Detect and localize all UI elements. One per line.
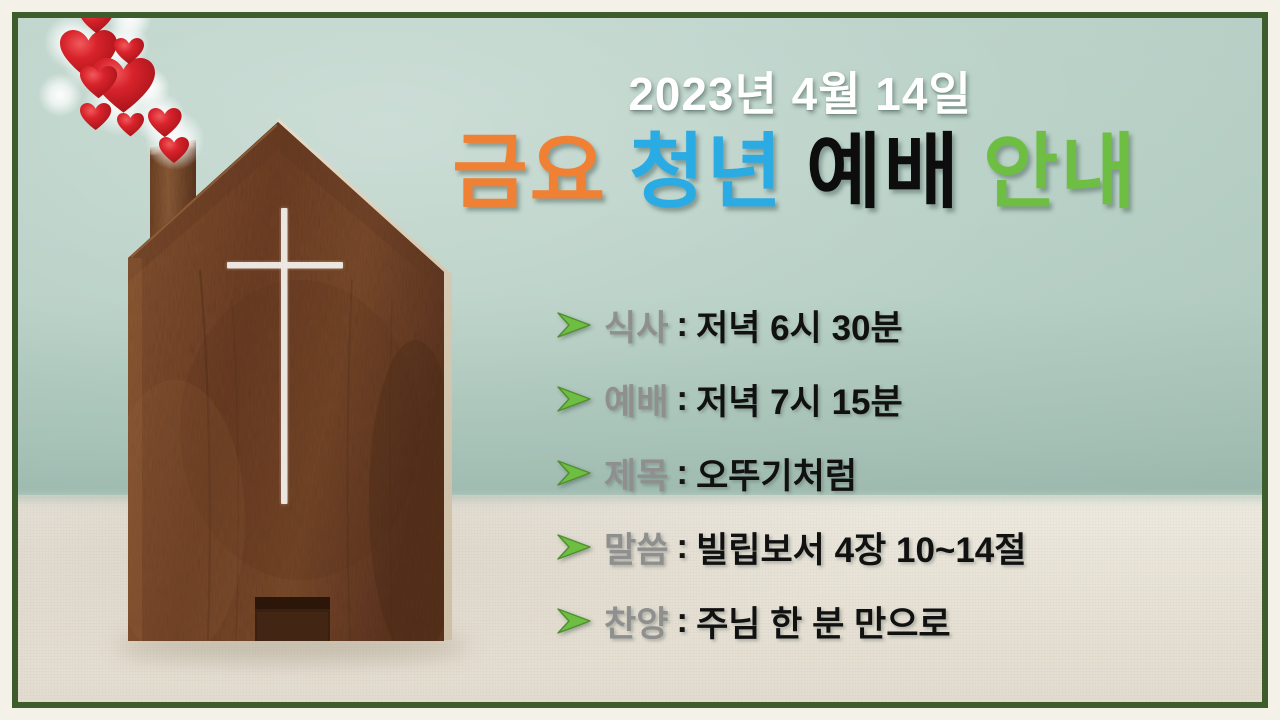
list-item-value: 저녁 7시 15분: [696, 374, 903, 425]
arrow-bullet-icon: [556, 310, 592, 340]
list-item-value: 저녁 6시 30분: [696, 300, 903, 351]
arrow-bullet-icon: [556, 384, 592, 414]
heart-smoke-group: [38, 0, 205, 170]
list-item-label: 식사: [604, 300, 668, 351]
arrow-bullet-icon: [556, 532, 592, 562]
list-item-separator: :: [668, 305, 696, 345]
title-part-cheongnyeon: 청년: [629, 127, 784, 218]
title-part-annae: 안내: [983, 127, 1138, 218]
list-item: 찬양 : 주님 한 분 만으로: [556, 584, 1256, 658]
list-item-label: 찬양: [604, 596, 668, 647]
poster-canvas: 2023년 4월 14일 금요청년예배안내 식사 : 저녁 6시 30분 예배 …: [0, 0, 1280, 720]
list-item: 예배 : 저녁 7시 15분: [556, 362, 1256, 436]
title-part-geumyo: 금요: [452, 127, 607, 218]
list-item: 말씀 : 빌립보서 4장 10~14절: [556, 510, 1256, 584]
list-item: 식사 : 저녁 6시 30분: [556, 288, 1256, 362]
list-item-separator: :: [668, 453, 696, 493]
list-item-value: 빌립보서 4장 10~14절: [696, 522, 1026, 573]
date-heading: 2023년 4월 14일: [420, 58, 1180, 124]
list-item-separator: :: [668, 601, 696, 641]
page-title: 금요청년예배안내: [395, 132, 1195, 214]
arrow-bullet-icon: [556, 606, 592, 636]
title-part-yebae: 예배: [806, 127, 961, 218]
list-item-label: 예배: [604, 374, 668, 425]
service-info-list: 식사 : 저녁 6시 30분 예배 : 저녁 7시 15분 제목 : 오뚜기처럼…: [556, 288, 1256, 658]
list-item: 제목 : 오뚜기처럼: [556, 436, 1256, 510]
list-item-label: 말씀: [604, 522, 668, 573]
list-item-value: 오뚜기처럼: [696, 448, 857, 499]
list-item-separator: :: [668, 379, 696, 419]
arrow-bullet-icon: [556, 458, 592, 488]
list-item-separator: :: [668, 527, 696, 567]
list-item-label: 제목: [604, 448, 668, 499]
door-notch: [255, 597, 330, 641]
list-item-value: 주님 한 분 만으로: [696, 596, 951, 647]
